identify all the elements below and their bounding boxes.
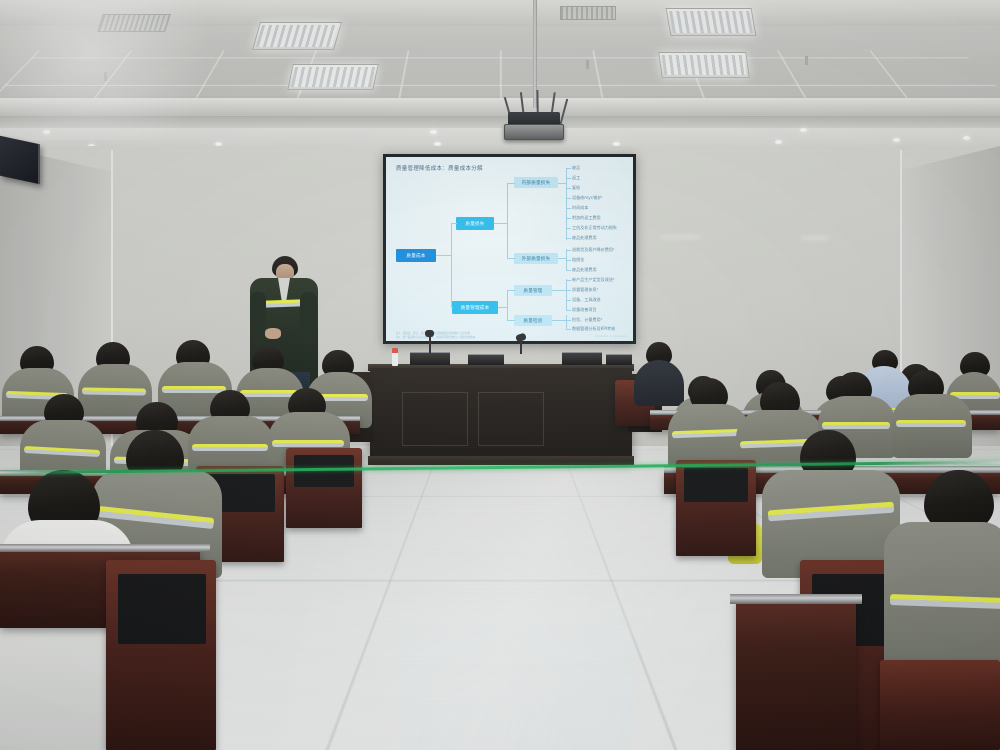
podium-monitor <box>468 354 504 365</box>
mindmap-leaf: 附加的返工费用 <box>572 215 601 221</box>
mindmap-connector <box>507 183 515 184</box>
downlight-icon <box>430 130 437 134</box>
mindmap-connector <box>552 320 566 321</box>
mindmap-leaf: 设备、工具改进 <box>572 297 601 303</box>
presenter-hand <box>265 328 281 339</box>
ceiling-light-icon <box>287 64 379 90</box>
mindmap-connector <box>507 290 515 291</box>
mindmap-connector <box>566 228 571 229</box>
reflective-stripe <box>192 444 268 451</box>
podium-monitor <box>606 354 632 365</box>
mindmap-connector <box>566 280 571 281</box>
downlight-icon <box>775 140 782 144</box>
downlight-icon <box>963 136 970 140</box>
mindmap-connector <box>566 300 571 301</box>
chair <box>880 660 1000 750</box>
projector-icon[interactable] <box>504 124 564 140</box>
reflective-stripe <box>896 420 966 427</box>
mindmap-leaf: 质量管理体系³ <box>572 287 598 293</box>
mindmap-connector <box>558 258 566 259</box>
reflective-stripe <box>272 440 344 447</box>
mindmap-connector <box>566 250 571 251</box>
sprinkler-icon <box>586 60 589 69</box>
mindmap-node-internal-loss: 内部质量损失 <box>514 177 558 188</box>
mindmap-connector <box>507 258 515 259</box>
mindmap-connector <box>566 310 571 311</box>
microphone-stand-icon <box>429 335 431 353</box>
mindmap-leaf: 工伤及非正常劳动力损失 <box>572 225 617 231</box>
mindmap-connector <box>566 270 571 271</box>
mindmap-leaf: 废品处理费用 <box>572 235 597 241</box>
hvac-vent-icon <box>97 14 171 32</box>
mindmap-node-quality-mgmt: 质量管理 <box>514 285 552 296</box>
wall-speaker-icon <box>0 136 40 185</box>
slide-footnote-2: 注2：新产品试制与设计改进投入，按项目周期分摊计入质量管理成本。 <box>396 336 516 340</box>
mindmap-connector <box>566 168 571 169</box>
mindmap-node-quality-inspection: 质量检验 <box>514 315 552 326</box>
mindmap-connector <box>558 183 566 184</box>
reflective-stripe <box>82 387 146 395</box>
ceiling-light-icon <box>252 22 342 50</box>
ceiling-beam <box>0 116 1000 128</box>
mindmap-node-external-loss: 外部质量损失 <box>514 253 558 264</box>
projection-screen-frame: 质量管理降低成本：质量成本分解 质量成本 质量损失 质量管理成本 内部质量损失 … <box>383 154 636 344</box>
mindmap-leaf: 新产品生产定型及改进² <box>572 277 615 283</box>
podium-monitor <box>562 352 602 365</box>
microphone-icon <box>425 330 434 337</box>
mindmap-diagram: 质量成本 质量损失 质量管理成本 内部质量损失 外部质量损失 质量管理 质量检验 <box>386 157 633 341</box>
sprinkler-icon <box>805 56 808 65</box>
mindmap-connector <box>566 178 571 179</box>
slide-watermark: Williams & Company <box>595 334 628 338</box>
mindmap-connector <box>451 223 457 224</box>
mindmap-connector <box>451 307 453 308</box>
mindmap-connector <box>566 238 571 239</box>
reflective-stripe <box>162 386 226 393</box>
mindmap-leaf: 赔偿金 <box>572 257 584 263</box>
water-bottle-icon <box>392 348 398 366</box>
microphone-stand-icon <box>520 340 522 354</box>
mindmap-leaf: 质量改善项目 <box>572 307 597 313</box>
mindmap-branch-quality-mgmt-cost: 质量管理成本 <box>452 301 498 314</box>
mindmap-connector <box>566 329 571 330</box>
mindmap-connector <box>566 218 571 219</box>
downlight-icon <box>43 130 50 134</box>
mindmap-connector <box>566 279 567 311</box>
mindmap-connector <box>451 223 452 308</box>
attendee-torso <box>634 360 684 406</box>
hvac-vent-icon <box>560 6 616 20</box>
mindmap-connector <box>566 208 571 209</box>
chair-backrest-pad <box>684 468 748 502</box>
mindmap-leaf: 废品处理费用 <box>572 267 597 273</box>
ceiling-beam <box>0 98 1000 116</box>
mindmap-connector <box>566 320 571 321</box>
downlight-icon <box>800 128 807 132</box>
mindmap-connector <box>494 223 508 224</box>
reflective-stripe <box>822 422 890 429</box>
mindmap-leaf: 废品 <box>572 165 580 171</box>
mindmap-connector <box>566 315 567 329</box>
meeting-room-photo: 质量管理降低成本：质量成本分解 质量成本 质量损失 质量管理成本 内部质量损失 … <box>0 0 1000 750</box>
mindmap-connector <box>566 260 571 261</box>
mindmap-leaf: 时间成本 <box>572 205 588 211</box>
mindmap-connector <box>566 188 571 189</box>
reflective-stripe <box>240 390 298 397</box>
podium-panel <box>478 392 544 446</box>
sprinkler-icon <box>104 72 107 81</box>
mindmap-root-node: 质量成本 <box>396 249 436 262</box>
ceiling-light-icon <box>658 52 750 78</box>
chair-backrest-pad <box>118 574 206 644</box>
wall-mark <box>660 235 702 239</box>
desk <box>736 600 856 750</box>
desk-top <box>0 544 210 552</box>
podium-plinth <box>368 456 634 465</box>
podium-monitor <box>410 352 450 365</box>
mindmap-leaf: 设备修myr/维护 <box>572 195 602 201</box>
desk-top <box>730 594 862 604</box>
mindmap-connector <box>566 290 571 291</box>
mindmap-connector <box>507 290 508 321</box>
presenter-arm-left <box>250 292 266 346</box>
mindmap-leaf: 返工 <box>572 175 580 181</box>
mindmap-leaf: 复检 <box>572 185 580 191</box>
ceiling <box>0 0 1000 152</box>
projection-screen[interactable]: 质量管理降低成本：质量成本分解 质量成本 质量损失 质量管理成本 内部质量损失 … <box>386 157 633 341</box>
mindmap-connector <box>507 183 508 259</box>
mindmap-connector <box>436 255 452 256</box>
slide-floor-reflection <box>400 566 632 750</box>
mindmap-leaf: 检验、计量费用⁴ <box>572 317 602 323</box>
presenter-arm-right <box>300 292 317 344</box>
wall-mark <box>800 236 830 240</box>
ceiling-light-icon <box>666 8 757 36</box>
downlight-icon <box>893 138 900 142</box>
mindmap-leaf: 退换货及客户降价费用¹ <box>572 247 615 253</box>
mindmap-connector <box>566 198 571 199</box>
podium-panel <box>402 392 468 446</box>
mindmap-leaf: 数据管理分析及KPI考核 <box>572 326 615 332</box>
mindmap-branch-quality-loss: 质量损失 <box>456 217 494 230</box>
mindmap-connector <box>507 320 515 321</box>
mindmap-connector <box>552 290 566 291</box>
